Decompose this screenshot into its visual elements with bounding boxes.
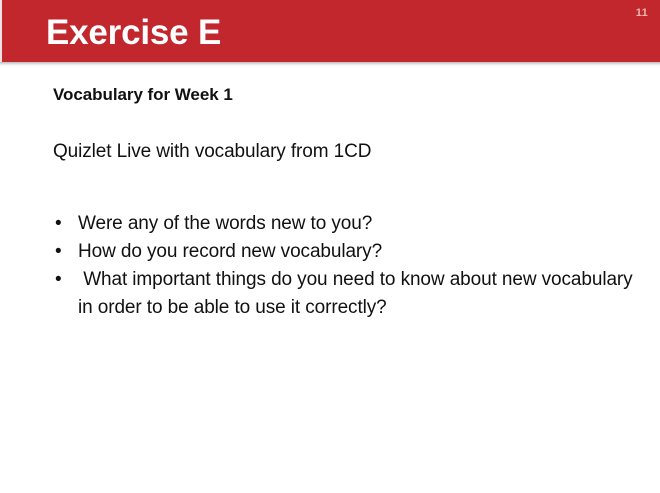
list-item-label: What important things do you need to kno… <box>78 266 633 322</box>
body-heading: Vocabulary for Week 1 <box>53 84 633 106</box>
list-item-label: How do you record new vocabulary? <box>78 238 633 266</box>
list-item: • What important things do you need to k… <box>53 266 633 322</box>
list-item: • How do you record new vocabulary? <box>53 238 633 266</box>
bullet-dot-icon: • <box>55 210 62 238</box>
slide-number: 11 <box>636 7 648 20</box>
bullet-dot-icon: • <box>55 238 62 266</box>
list-item: • Were any of the words new to you? <box>53 210 633 238</box>
page-title: Exercise E <box>46 13 221 53</box>
slide-title-bar: Exercise E 11 <box>0 0 660 62</box>
bullet-list: • Were any of the words new to you? • Ho… <box>53 210 633 322</box>
slide-body: Vocabulary for Week 1 Quizlet Live with … <box>53 84 633 322</box>
list-item-label: Were any of the words new to you? <box>78 210 633 238</box>
bullet-dot-icon: • <box>55 266 62 294</box>
title-bar-shadow <box>0 62 660 67</box>
body-intro-text: Quizlet Live with vocabulary from 1CD <box>53 140 633 164</box>
presentation-slide: Exercise E 11 Vocabulary for Week 1 Quiz… <box>0 0 660 493</box>
